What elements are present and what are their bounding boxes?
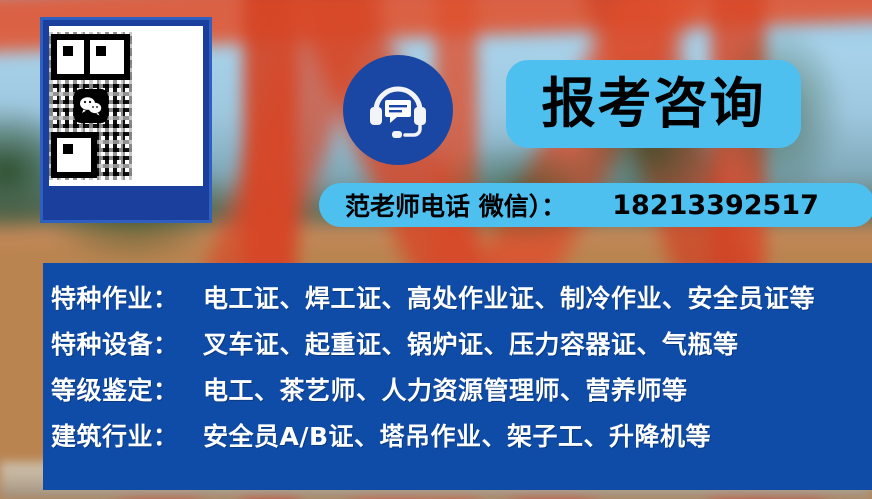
category-label: 等级鉴定： bbox=[51, 371, 203, 407]
category-label: 建筑行业： bbox=[51, 417, 203, 453]
category-value: 电工证、焊工证、高处作业证、制冷作业、安全员证等 bbox=[203, 279, 815, 315]
qr-finder-top-right bbox=[84, 34, 130, 80]
headset-support-badge bbox=[343, 55, 453, 165]
headline-pill: 报考咨询 bbox=[506, 60, 801, 148]
categories-list: 特种作业： 电工证、焊工证、高处作业证、制冷作业、安全员证等 特种设备： 叉车证… bbox=[43, 263, 872, 463]
list-item: 特种作业： 电工证、焊工证、高处作业证、制冷作业、安全员证等 bbox=[51, 279, 872, 325]
list-item: 等级鉴定： 电工、茶艺师、人力资源管理师、营养师等 bbox=[51, 371, 872, 417]
contact-phone-number[interactable]: 18213392517 bbox=[612, 190, 819, 221]
wechat-icon bbox=[74, 89, 108, 123]
qr-caption: 立即扫码咨询 bbox=[132, 89, 203, 123]
promo-poster: 立即扫码咨询 报考咨询 范老师电话 微信）： 18213392517 特种作业：… bbox=[0, 0, 872, 499]
category-label: 特种作业： bbox=[51, 279, 203, 315]
qr-code-area[interactable]: 立即扫码咨询 bbox=[49, 26, 203, 186]
qr-code-image[interactable] bbox=[49, 32, 132, 180]
list-item: 特种设备： 叉车证、起重证、锅炉证、压力容器证、气瓶等 bbox=[51, 325, 872, 371]
category-value: 电工、茶艺师、人力资源管理师、营养师等 bbox=[203, 371, 688, 407]
category-label: 特种设备： bbox=[51, 325, 203, 361]
qr-finder-bottom-left bbox=[51, 132, 97, 178]
category-value: 安全员A/B证、塔吊作业、架子工、升降机等 bbox=[203, 417, 711, 453]
qr-card[interactable]: 立即扫码咨询 报考咨询 范老师电话 微信）： 18213392517 特种作业：… bbox=[40, 17, 212, 223]
contact-pill[interactable]: 范老师电话 微信）： 18213392517 bbox=[319, 183, 872, 227]
headset-support-icon bbox=[366, 79, 430, 141]
category-value: 叉车证、起重证、锅炉证、压力容器证、气瓶等 bbox=[203, 325, 739, 361]
page-title: 报考咨询 bbox=[542, 77, 766, 131]
contact-label: 范老师电话 微信）： bbox=[345, 187, 566, 223]
list-item: 建筑行业： 安全员A/B证、塔吊作业、架子工、升降机等 bbox=[51, 417, 872, 463]
categories-band: 特种作业： 电工证、焊工证、高处作业证、制冷作业、安全员证等 特种设备： 叉车证… bbox=[43, 263, 872, 490]
